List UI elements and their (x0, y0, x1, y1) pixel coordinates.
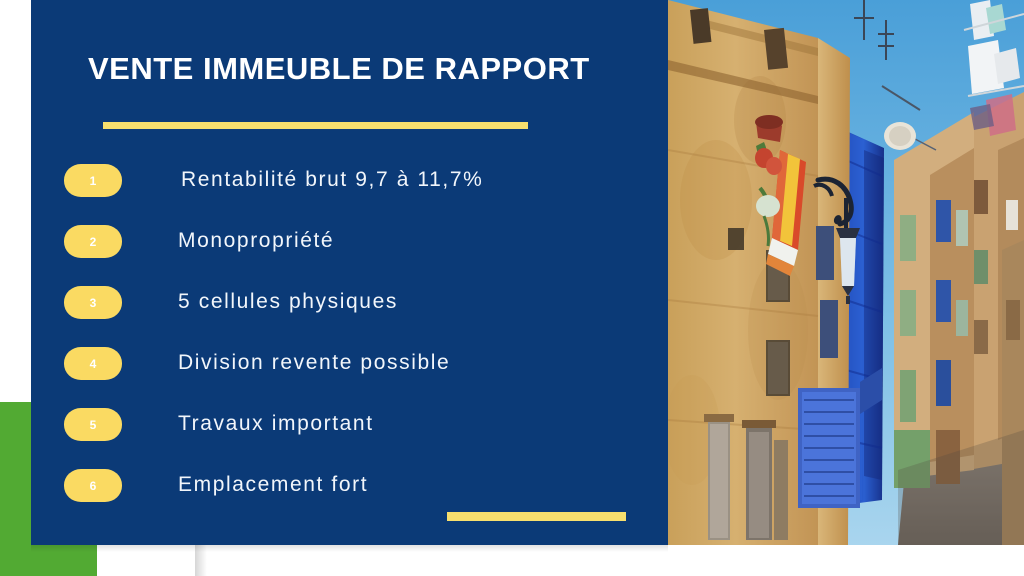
list-item-number: 3 (90, 297, 97, 309)
list-item[interactable]: 2 Monopropriété (31, 222, 668, 262)
list-item-badge: 2 (64, 225, 122, 258)
list-item-badge: 5 (64, 408, 122, 441)
feature-list: 1 Rentabilité brut 9,7 à 11,7% 2 Monopro… (31, 0, 668, 545)
list-item-label: Travaux important (178, 411, 374, 437)
list-item-badge: 4 (64, 347, 122, 380)
list-item-number: 5 (90, 419, 97, 431)
list-item[interactable]: 1 Rentabilité brut 9,7 à 11,7% (31, 161, 668, 201)
list-item-label: Monopropriété (178, 228, 334, 254)
list-item-label: 5 cellules physiques (178, 289, 398, 315)
bottom-accent-bar (447, 512, 626, 521)
list-item-label: Division revente possible (178, 350, 450, 376)
list-item-badge: 3 (64, 286, 122, 319)
list-item-number: 2 (90, 236, 97, 248)
paper-fold-shadow (195, 544, 207, 576)
list-item[interactable]: 6 Emplacement fort (31, 466, 668, 506)
list-item-label: Rentabilité brut 9,7 à 11,7% (181, 167, 483, 193)
list-item[interactable]: 5 Travaux important (31, 405, 668, 445)
slide-canvas: VENTE IMMEUBLE DE RAPPORT 1 Rentabilité … (0, 0, 1024, 576)
street-photo (668, 0, 1024, 545)
list-item-label: Emplacement fort (178, 472, 368, 498)
list-item-badge: 1 (64, 164, 122, 197)
list-item[interactable]: 3 5 cellules physiques (31, 283, 668, 323)
list-item-number: 1 (90, 175, 97, 187)
list-item-badge: 6 (64, 469, 122, 502)
list-item-number: 6 (90, 480, 97, 492)
list-item[interactable]: 4 Division revente possible (31, 344, 668, 384)
street-photo-illustration (668, 0, 1024, 545)
content-panel: VENTE IMMEUBLE DE RAPPORT 1 Rentabilité … (31, 0, 668, 545)
list-item-number: 4 (90, 358, 97, 370)
panel-drop-shadow (31, 544, 668, 552)
